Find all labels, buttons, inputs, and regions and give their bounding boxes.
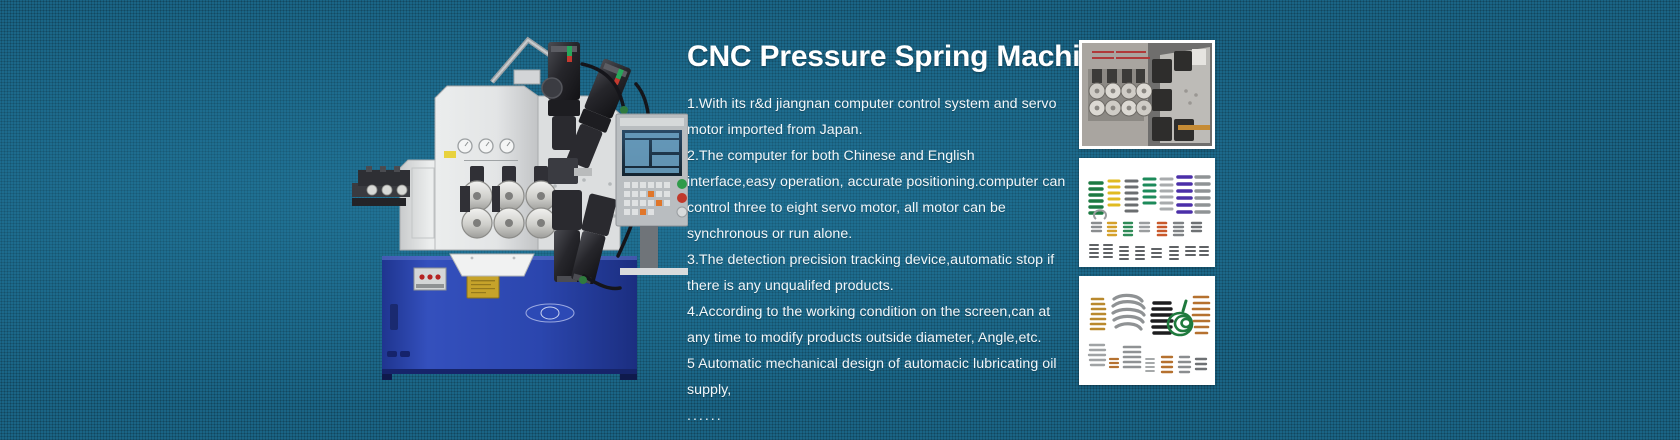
feature-item-5: 5 Automatic mechanical design of automac… xyxy=(687,351,1067,403)
feature-item-2: 2.The computer for both Chinese and Engl… xyxy=(687,143,1067,247)
thumbnail-spring-machine-tooling[interactable] xyxy=(1079,40,1215,149)
feature-item-3: 3.The detection precision tracking devic… xyxy=(687,247,1067,299)
thumbnail-colored-springs[interactable] xyxy=(1079,158,1215,267)
thumbnail-assorted-springs[interactable] xyxy=(1079,276,1215,385)
support-arm xyxy=(492,40,557,84)
cnc-control-pendant xyxy=(616,114,688,275)
cnc-machine-photo xyxy=(352,18,688,380)
ellipsis-text: ...... xyxy=(687,403,1067,429)
feature-item-1: 1.With its r&d jiangnan computer control… xyxy=(687,91,1067,143)
feature-item-4: 4.According to the working condition on … xyxy=(687,299,1067,351)
product-thumbnail-list xyxy=(1079,40,1219,385)
page-title: CNC Pressure Spring Machine xyxy=(687,40,1067,73)
product-banner: CNC Pressure Spring Machine 1.With its r… xyxy=(0,0,1680,440)
feature-list: 1.With its r&d jiangnan computer control… xyxy=(687,91,1067,403)
feed-rollers xyxy=(460,166,556,238)
wire-feed-assembly xyxy=(352,166,410,206)
banner-text-column: CNC Pressure Spring Machine 1.With its r… xyxy=(687,40,1067,440)
